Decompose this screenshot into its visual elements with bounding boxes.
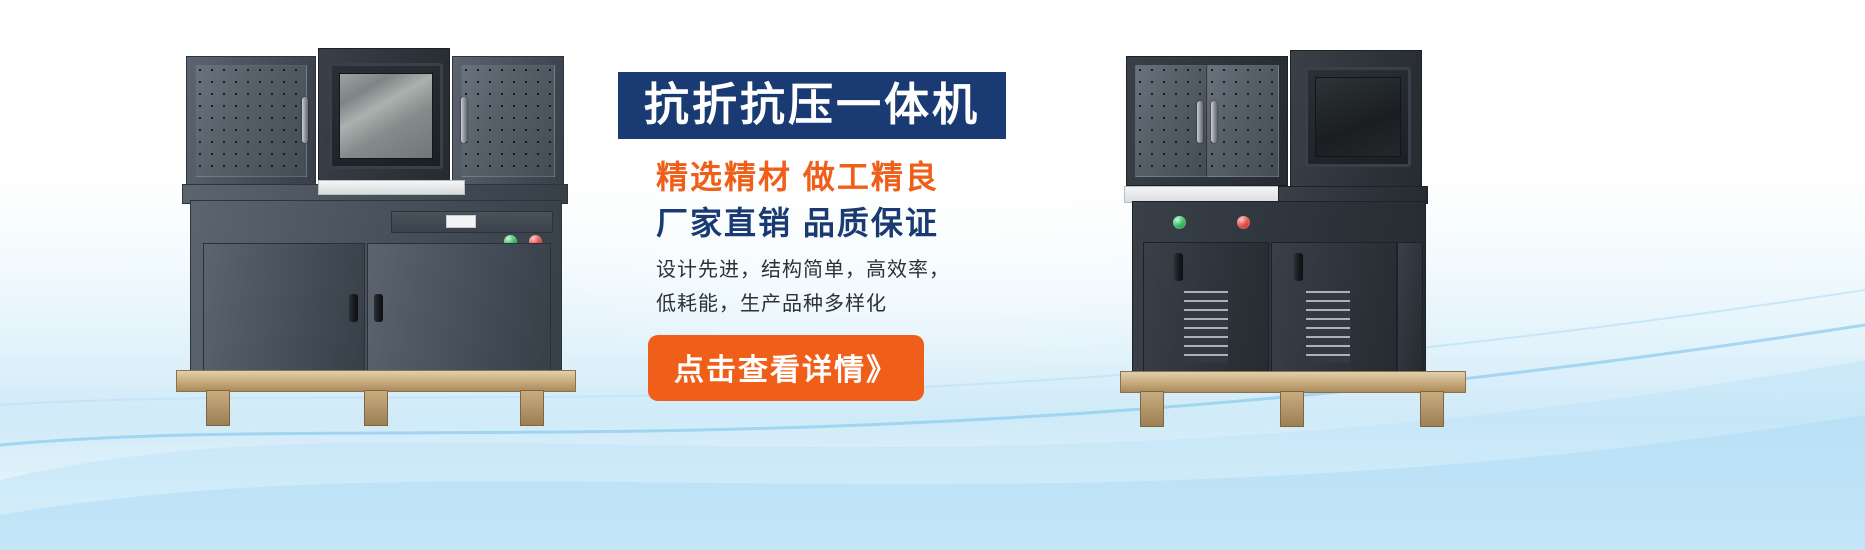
- indicator-lamp-red-icon: [1237, 216, 1250, 229]
- cabinet-handle-icon: [1211, 101, 1217, 143]
- pallet-leg: [520, 390, 544, 426]
- left-machine-white-plate: [318, 180, 465, 195]
- monitor-screen: [1315, 77, 1401, 157]
- right-machine-side-panel: [1397, 242, 1423, 372]
- description-text: 设计先进，结构简单，高效率， 低耗能，生产品种多样化: [618, 253, 1088, 321]
- ventilation-louvers-icon: [1184, 291, 1228, 363]
- product-image-right: [1118, 40, 1478, 430]
- right-machine-monitor-housing: [1290, 50, 1422, 188]
- headline-blue: 厂家直销 品质保证: [618, 203, 1088, 243]
- cabinet-handle-icon: [1294, 253, 1303, 281]
- left-machine-lower-door-right: [367, 243, 551, 373]
- left-machine-upper-right-door: [452, 56, 564, 186]
- cabinet-handle-icon: [1197, 101, 1203, 143]
- perforated-panel-icon: [195, 65, 307, 177]
- banner-copy-block: 抗折抗压一体机 精选精材 做工精良 厂家直销 品质保证 设计先进，结构简单，高效…: [618, 72, 1088, 401]
- indicator-lamp-green-icon: [1173, 216, 1186, 229]
- pallet-leg: [364, 390, 388, 426]
- cabinet-handle-icon: [374, 294, 383, 322]
- left-machine-lower-door-left: [203, 243, 365, 373]
- perforated-panel-icon: [1207, 65, 1279, 177]
- headline-orange: 精选精材 做工精良: [618, 157, 1088, 197]
- promo-banner: 抗折抗压一体机 精选精材 做工精良 厂家直销 品质保证 设计先进，结构简单，高效…: [0, 0, 1865, 550]
- pallet-leg: [206, 390, 230, 426]
- left-machine-name-plate: [446, 215, 476, 228]
- view-details-button[interactable]: 点击查看详情》: [648, 335, 924, 401]
- right-machine-body: [1132, 201, 1426, 375]
- description-line-2: 低耗能，生产品种多样化: [656, 287, 1088, 321]
- cabinet-handle-icon: [1174, 253, 1183, 281]
- right-machine-door-left: [1143, 242, 1269, 372]
- control-monitor: [329, 63, 443, 169]
- left-machine-upper-left-door: [186, 56, 316, 186]
- monitor-screen: [339, 73, 433, 159]
- product-image-left: [168, 40, 580, 430]
- banner-title: 抗折抗压一体机: [618, 72, 1006, 139]
- cabinet-handle-icon: [461, 97, 467, 143]
- wooden-pallet: [1120, 371, 1466, 393]
- ventilation-louvers-icon: [1306, 291, 1350, 363]
- control-monitor: [1305, 67, 1411, 167]
- perforated-panel-icon: [461, 65, 555, 177]
- pallet-leg: [1140, 391, 1164, 427]
- right-machine-door-right: [1271, 242, 1397, 372]
- pallet-leg: [1280, 391, 1304, 427]
- left-machine-monitor-housing: [318, 48, 450, 190]
- pallet-leg: [1420, 391, 1444, 427]
- right-machine-upper-cabinet: [1126, 56, 1288, 186]
- description-line-1: 设计先进，结构简单，高效率，: [656, 253, 1088, 287]
- wooden-pallet: [176, 370, 576, 392]
- left-machine-body: [190, 200, 562, 374]
- cabinet-handle-icon: [302, 97, 308, 143]
- cabinet-handle-icon: [349, 294, 358, 322]
